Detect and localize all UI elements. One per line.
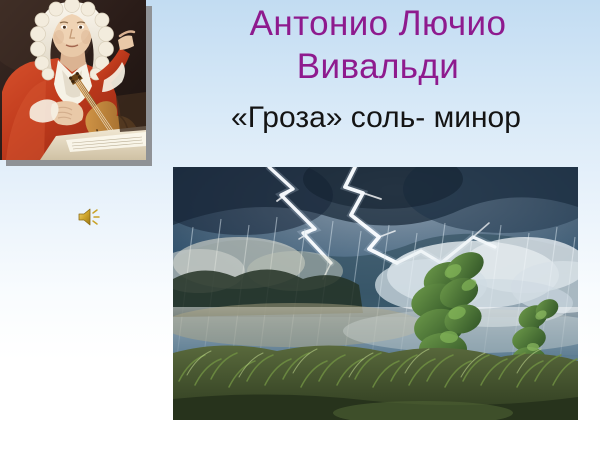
portrait-antonio-vivaldi[interactable]	[0, 0, 152, 166]
title-line-2: Вивальди	[156, 45, 600, 88]
slide-canvas: Антонио Лючио Вивальди «Гроза» соль- мин…	[0, 0, 600, 450]
sound-speaker-icon[interactable]	[76, 205, 102, 229]
subtitle: «Гроза» соль- минор	[156, 99, 596, 137]
portrait-image	[0, 0, 146, 160]
painting-thunderstorm[interactable]	[173, 167, 578, 420]
page-title: Антонио Лючио Вивальди	[156, 2, 600, 88]
title-line-1: Антонио Лючио	[156, 2, 600, 45]
